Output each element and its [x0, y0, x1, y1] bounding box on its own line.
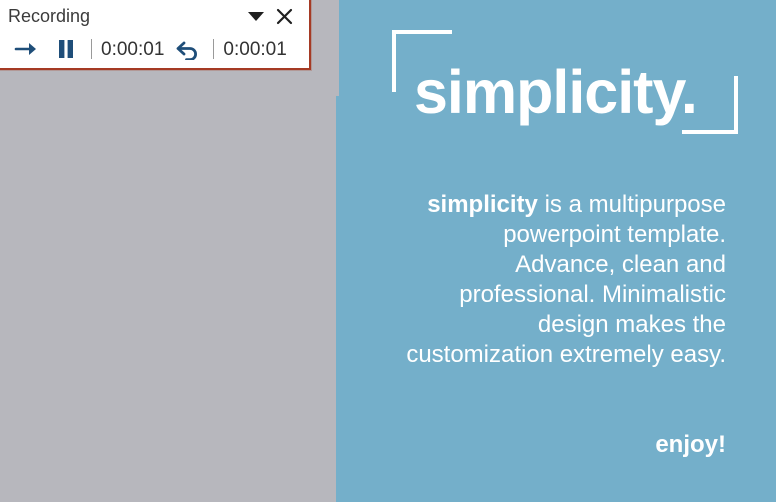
- arrow-right-icon[interactable]: [10, 35, 42, 63]
- recording-toolbar[interactable]: Recording: [0, 0, 311, 70]
- undo-arrow-icon[interactable]: [172, 35, 204, 63]
- chevron-down-icon[interactable]: [245, 5, 267, 27]
- slide-closing-text: enjoy!: [400, 430, 726, 460]
- control-separator: [91, 39, 92, 59]
- slide-body-text: simplicity is a multipurpose powerpoint …: [400, 190, 726, 370]
- pause-icon[interactable]: [50, 35, 82, 63]
- control-separator: [213, 39, 214, 59]
- slide-timer: 0:00:01: [101, 40, 164, 59]
- recording-toolbar-controls: 0:00:01 0:00:01: [0, 32, 309, 66]
- slide-title-block: simplicity.: [386, 26, 746, 138]
- screen: simplicity. simplicity is a multipurpose…: [0, 0, 776, 502]
- close-icon[interactable]: [273, 5, 295, 27]
- slide-body-lead: simplicity: [427, 191, 538, 218]
- slide-panel-notch: [336, 0, 339, 96]
- total-timer: 0:00:01: [223, 40, 286, 59]
- recording-toolbar-title: Recording: [8, 7, 90, 25]
- recording-toolbar-titlebar[interactable]: Recording: [0, 0, 309, 32]
- page-title: simplicity.: [414, 62, 734, 123]
